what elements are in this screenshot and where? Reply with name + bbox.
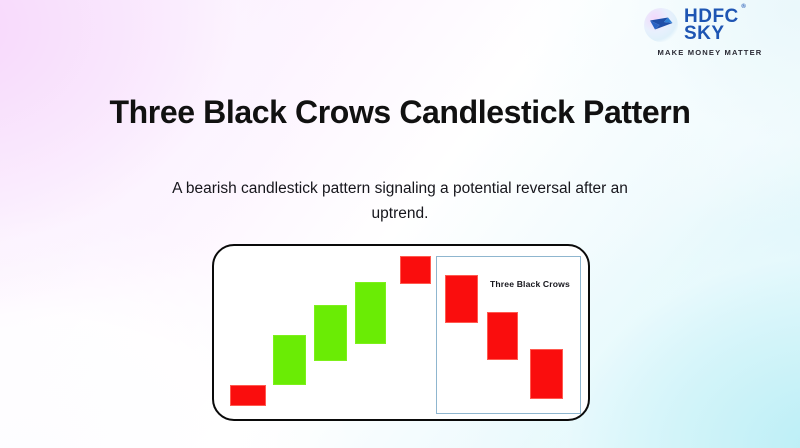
candle-crow-1 bbox=[445, 275, 478, 323]
slide-canvas: HDFC SKY ® MAKE MONEY MATTER Three Black… bbox=[0, 0, 800, 448]
logo-wordmark: HDFC SKY ® bbox=[684, 8, 739, 43]
logo-row: HDFC SKY ® bbox=[634, 8, 786, 43]
brand-tagline: MAKE MONEY MATTER bbox=[634, 48, 786, 57]
candle-5 bbox=[400, 256, 431, 284]
page-title: Three Black Crows Candlestick Pattern bbox=[0, 92, 800, 133]
candle-4 bbox=[355, 282, 386, 344]
candlestick-chart: Three Black Crows bbox=[212, 244, 590, 421]
candle-3 bbox=[314, 305, 347, 361]
candle-2 bbox=[273, 335, 306, 385]
page-subtitle: A bearish candlestick pattern signaling … bbox=[0, 176, 800, 226]
candle-crow-3 bbox=[530, 349, 563, 399]
brand-logo: HDFC SKY ® MAKE MONEY MATTER bbox=[634, 8, 786, 57]
logo-word-sky: SKY bbox=[684, 25, 739, 42]
candle-crow-2 bbox=[487, 312, 518, 360]
trademark-symbol: ® bbox=[741, 5, 745, 11]
chart-plot-area: Three Black Crows bbox=[214, 246, 588, 419]
candle-1 bbox=[230, 385, 266, 406]
hdfc-sky-swoosh-icon bbox=[644, 8, 678, 42]
three-black-crows-label: Three Black Crows bbox=[490, 279, 570, 289]
